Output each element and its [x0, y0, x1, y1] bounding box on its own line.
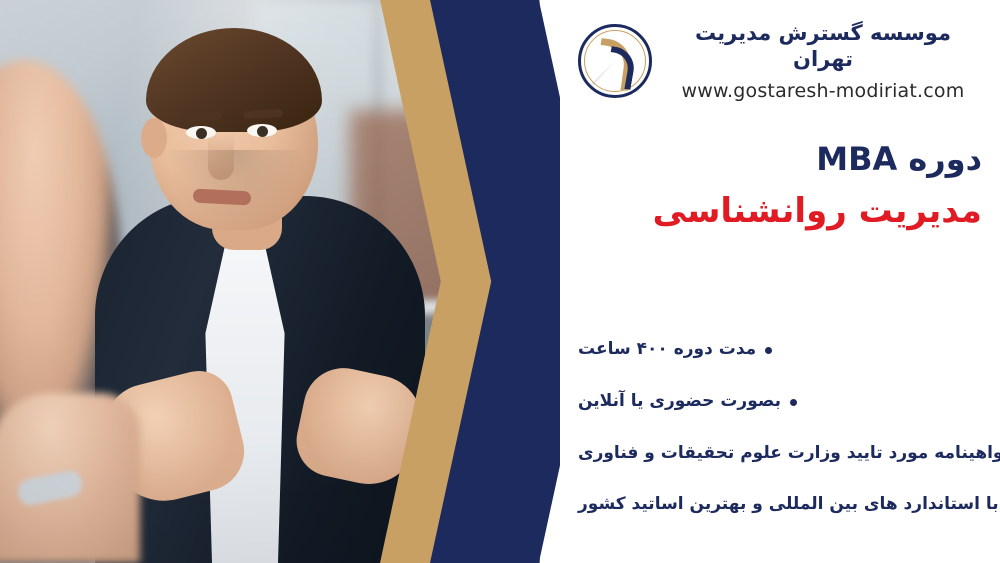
bullet-icon — [765, 347, 772, 354]
feature-list: مدت دوره ۴۰۰ ساعت بصورت حضوری یا آنلاین … — [578, 338, 982, 517]
feature-label: گواهینامه مورد تایید وزارت علوم تحقیقات … — [578, 442, 1000, 466]
bullet-icon — [790, 399, 797, 406]
brand-header: موسسه گسترش مدیریت تهران www.gostaresh-m… — [578, 18, 982, 104]
feature-label: بصورت حضوری یا آنلاین — [578, 390, 781, 414]
list-item: گواهینامه مورد تایید وزارت علوم تحقیقات … — [578, 442, 982, 466]
website-url[interactable]: www.gostaresh-modiriat.com — [664, 80, 982, 102]
brand-text-block: موسسه گسترش مدیریت تهران www.gostaresh-m… — [664, 20, 982, 103]
institute-name: موسسه گسترش مدیریت تهران — [664, 20, 982, 73]
course-title-line2: مدیریت روانشناسی — [578, 190, 982, 233]
content-panel: موسسه گسترش مدیریت تهران www.gostaresh-m… — [560, 0, 1000, 563]
feature-label: مدت دوره ۴۰۰ ساعت — [578, 338, 756, 362]
course-heading: دوره MBA مدیریت روانشناسی — [578, 140, 982, 233]
feature-label: با استاندارد های بین المللی و بهترین اسا… — [578, 493, 999, 517]
list-item: بصورت حضوری یا آنلاین — [578, 390, 982, 414]
list-item: مدت دوره ۴۰۰ ساعت — [578, 338, 982, 362]
list-item: با استاندارد های بین المللی و بهترین اسا… — [578, 493, 982, 517]
institute-logo-icon — [578, 24, 652, 98]
course-title-line1: دوره MBA — [578, 140, 982, 178]
promotional-banner: موسسه گسترش مدیریت تهران www.gostaresh-m… — [0, 0, 1000, 563]
